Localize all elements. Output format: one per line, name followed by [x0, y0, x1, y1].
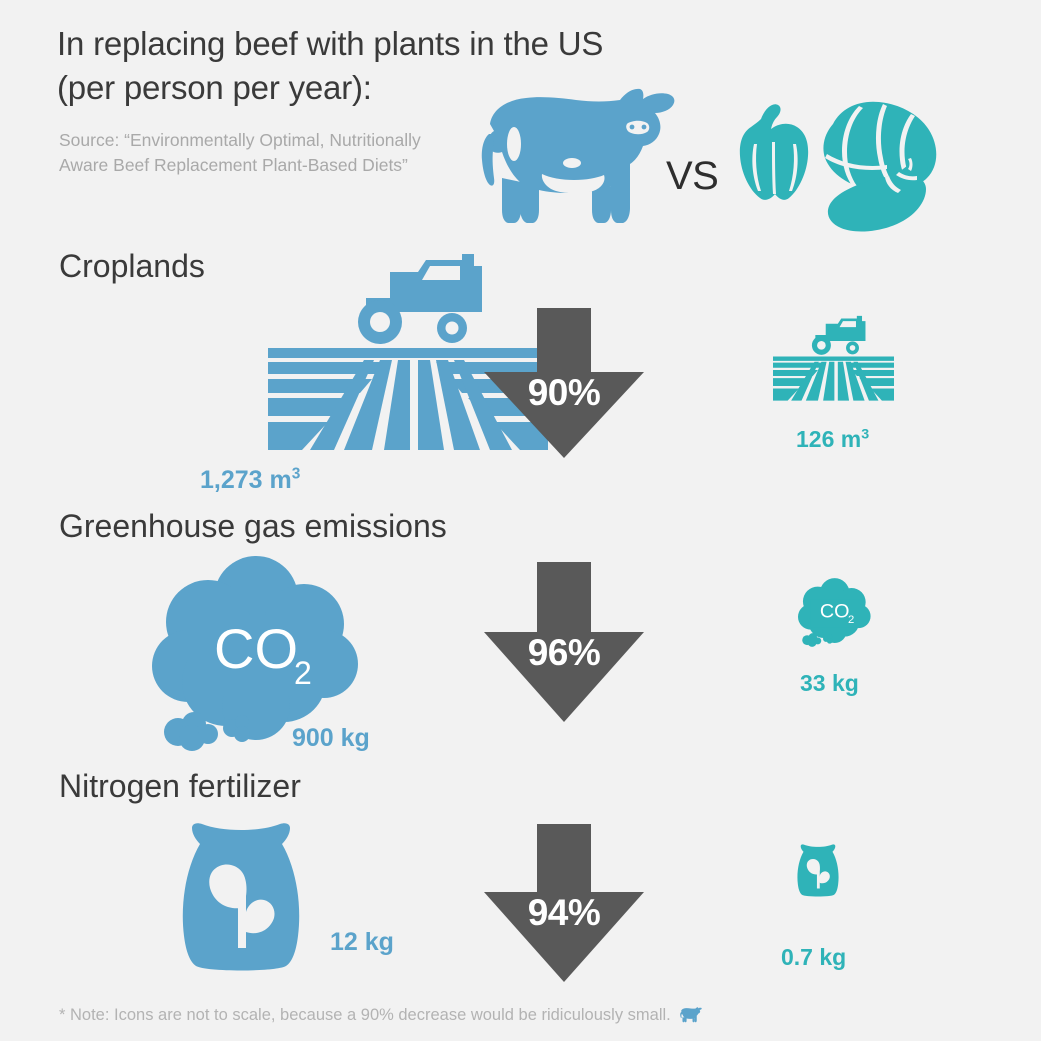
- hero-comparison: VS: [480, 86, 950, 238]
- down-arrow-icon: 94%: [484, 824, 644, 982]
- beef-measure-croplands: 1,273 m3: [90, 246, 470, 496]
- svg-text:CO: CO: [214, 617, 298, 680]
- vegetables-icon: [723, 98, 943, 238]
- reduction-arrow-nitrogen: 94%: [470, 766, 660, 1016]
- beef-value-croplands: 1,273 m3: [200, 466, 300, 495]
- cropland-field-tractor-icon: [773, 314, 894, 403]
- plant-value-nitrogen: 0.7 kg: [781, 944, 846, 971]
- co2-cloud-icon: CO 2: [152, 556, 362, 751]
- source-line-1: Source: “Environmentally Optimal, Nutrit…: [59, 128, 479, 153]
- down-arrow-icon: 90%: [484, 308, 644, 458]
- svg-text:2: 2: [294, 655, 312, 691]
- vs-label: VS: [666, 154, 718, 199]
- beef-measure-nitrogen: 12 kg: [90, 766, 470, 1016]
- cow-icon: [480, 86, 695, 231]
- reduction-arrow-ghg: 96%: [470, 506, 660, 756]
- plant-measure-ghg: CO 2 33 kg: [740, 506, 970, 756]
- cow-mini-icon: [680, 1006, 704, 1024]
- plant-measure-nitrogen: 0.7 kg: [740, 766, 970, 1016]
- beef-value-ghg: 900 kg: [292, 724, 370, 753]
- fertilizer-bag-icon: [176, 822, 306, 972]
- footnote: * Note: Icons are not to scale, because …: [59, 1006, 704, 1025]
- svg-text:2: 2: [848, 614, 854, 626]
- beef-measure-ghg: CO 2 900 kg: [90, 506, 470, 756]
- plant-value-ghg: 33 kg: [800, 670, 859, 697]
- infographic-canvas: In replacing beef with plants in the US …: [0, 0, 1041, 1041]
- footnote-text: * Note: Icons are not to scale, because …: [59, 1006, 671, 1024]
- reduction-arrow-croplands: 90%: [470, 246, 660, 496]
- title-line-1: In replacing beef with plants in the US: [57, 22, 697, 66]
- co2-cloud-icon: CO 2: [798, 578, 872, 647]
- beef-value-nitrogen: 12 kg: [330, 928, 394, 957]
- down-arrow-icon: 96%: [484, 562, 644, 722]
- svg-text:CO: CO: [820, 601, 850, 623]
- plant-value-croplands: 126 m3: [796, 426, 869, 453]
- plant-measure-croplands: 126 m3: [740, 246, 970, 496]
- fertilizer-bag-icon: [795, 844, 841, 897]
- source-citation: Source: “Environmentally Optimal, Nutrit…: [59, 128, 479, 178]
- source-line-2: Aware Beef Replacement Plant-Based Diets…: [59, 153, 479, 178]
